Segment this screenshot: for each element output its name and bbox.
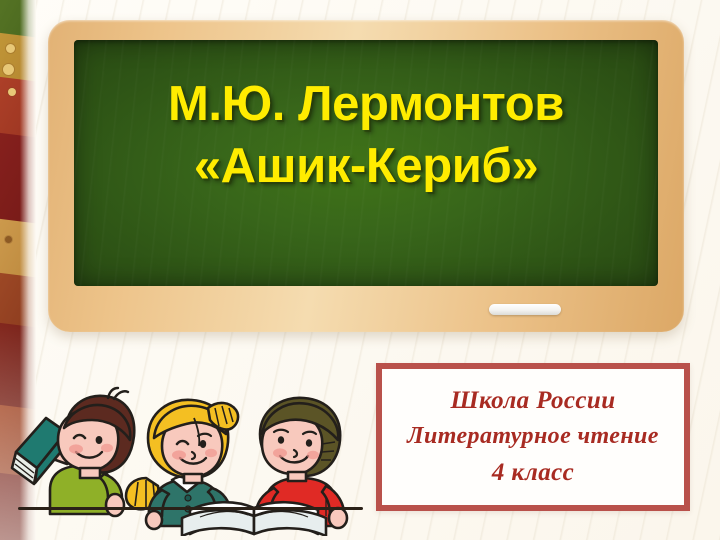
- children-illustration: .ol { stroke:#231f1b; stroke-width:2.6; …: [4, 386, 364, 536]
- board-title-line-2: «Ашик-Кериб»: [194, 136, 538, 198]
- child-girl-with-book: [12, 388, 134, 516]
- chalkboard: М.Ю. Лермонтов «Ашик-Кериб»: [48, 20, 684, 332]
- caption-line-grade: 4 класс: [492, 456, 574, 491]
- slide-canvas: М.Ю. Лермонтов «Ашик-Кериб» Школа России…: [0, 0, 720, 540]
- caption-line-program: Школа России: [451, 384, 616, 419]
- caption-line-subject: Литературное чтение: [407, 420, 659, 453]
- chalk-stick-icon: [489, 304, 561, 315]
- desk-line: [18, 507, 363, 510]
- caption-box: Школа России Литературное чтение 4 класс: [376, 363, 690, 511]
- board-title-line-1: М.Ю. Лермонтов: [168, 74, 564, 136]
- chalkboard-surface: М.Ю. Лермонтов «Ашик-Кериб»: [74, 40, 658, 286]
